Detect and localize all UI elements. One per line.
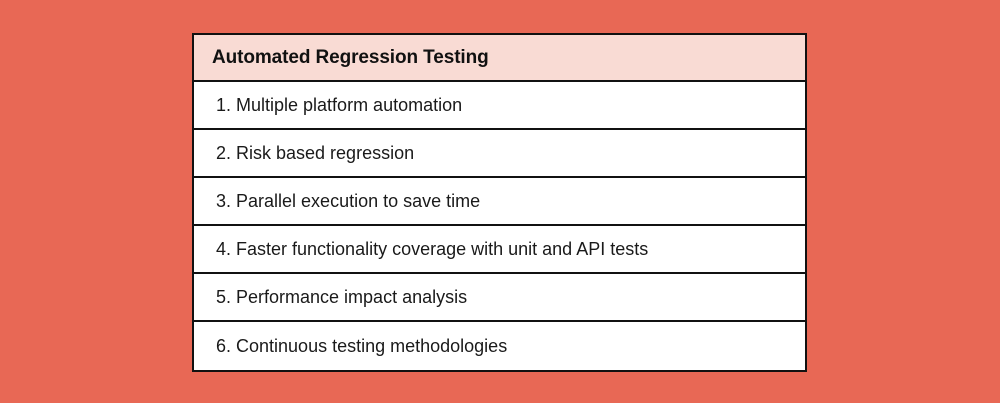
table-row: 6. Continuous testing methodologies [194, 322, 805, 370]
table-row-text: 3. Parallel execution to save time [216, 192, 480, 210]
table-row: 3. Parallel execution to save time [194, 178, 805, 226]
table-row: 1. Multiple platform automation [194, 82, 805, 130]
table-row-text: 5. Performance impact analysis [216, 288, 467, 306]
table-row-text: 1. Multiple platform automation [216, 96, 462, 114]
table-row: 2. Risk based regression [194, 130, 805, 178]
table-header-title: Automated Regression Testing [212, 48, 489, 67]
table-row-text: 4. Faster functionality coverage with un… [216, 240, 648, 258]
table-row-text: 2. Risk based regression [216, 144, 414, 162]
table-row: 4. Faster functionality coverage with un… [194, 226, 805, 274]
page-canvas: Automated Regression Testing 1. Multiple… [0, 0, 1000, 403]
table-row: 5. Performance impact analysis [194, 274, 805, 322]
regression-testing-table: Automated Regression Testing 1. Multiple… [192, 33, 807, 372]
table-row-text: 6. Continuous testing methodologies [216, 337, 507, 355]
table-header: Automated Regression Testing [194, 35, 805, 82]
